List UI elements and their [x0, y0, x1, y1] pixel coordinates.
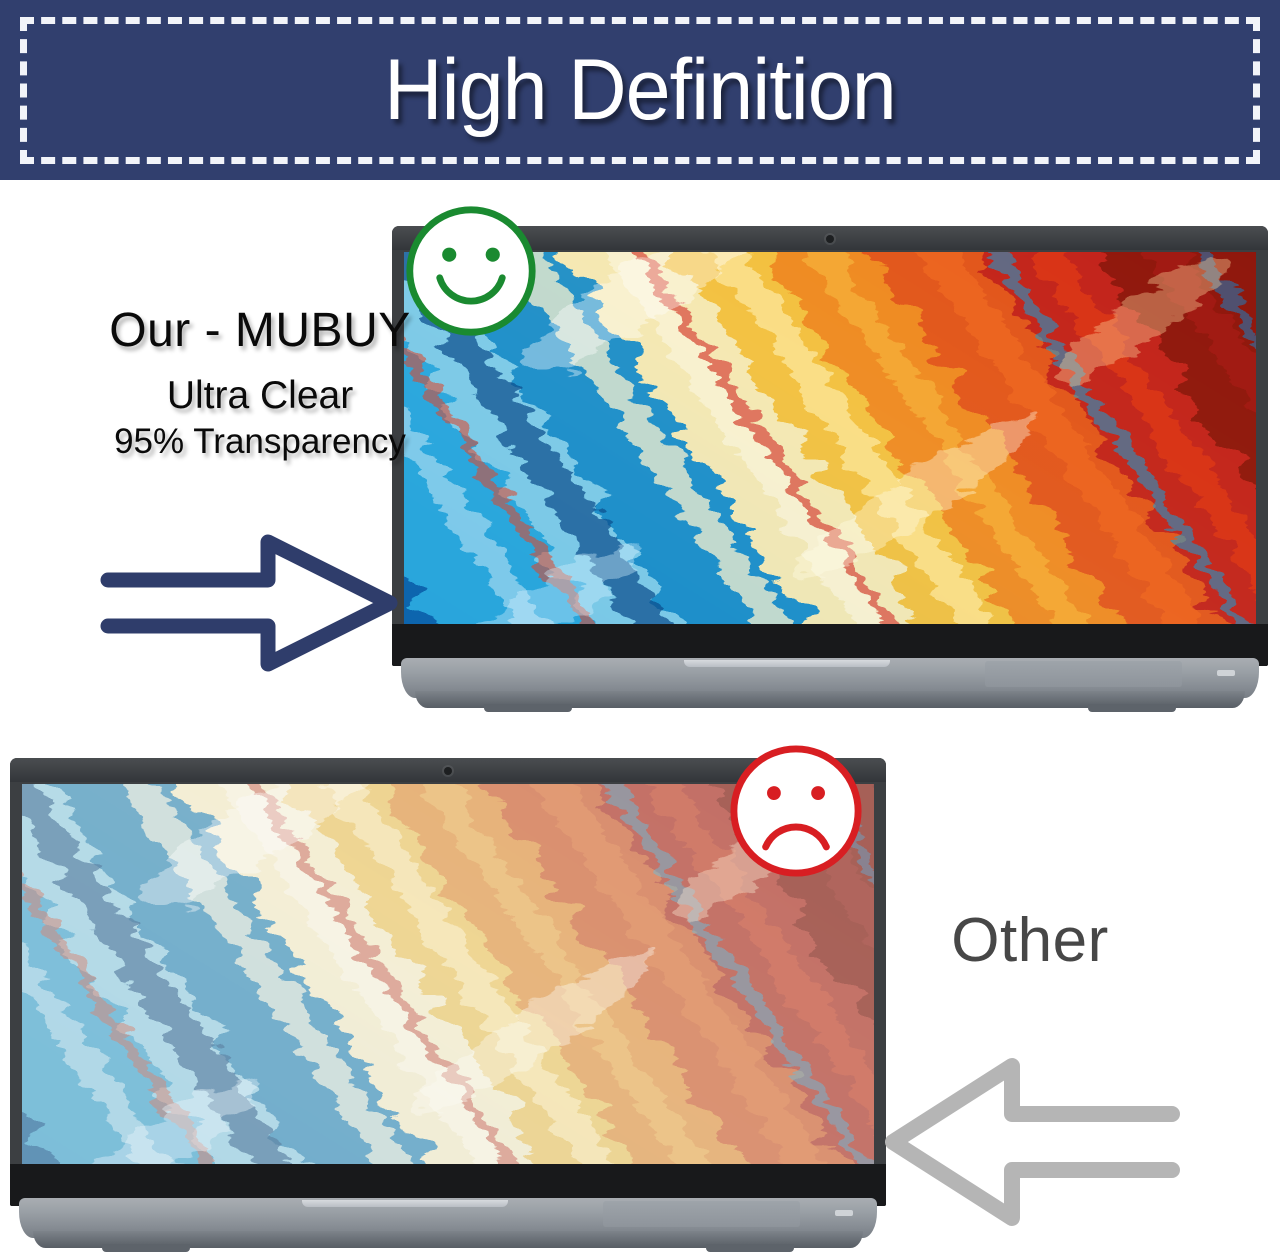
page-title: High Definition: [38, 0, 1241, 180]
laptop-foot-left: [484, 704, 572, 712]
happy-face-icon: [403, 203, 539, 339]
laptop-foot-left: [102, 1244, 190, 1252]
webcam-icon: [444, 767, 452, 775]
webcam-icon: [826, 235, 834, 243]
laptop-base-led: [1217, 670, 1235, 676]
laptop-foot-right: [706, 1244, 794, 1252]
sad-face-icon: [727, 742, 865, 880]
laptop-base-led: [835, 1210, 853, 1216]
laptop-base-mubuy: [392, 658, 1268, 716]
mubuy-copy-block: Our - MUBUY Ultra Clear 95% Transparency: [60, 305, 460, 461]
arrow-right-icon: [100, 528, 400, 678]
laptop-base-panel: [985, 661, 1182, 687]
transparency-spec-label: 95% Transparency: [60, 423, 460, 462]
feature-label: Ultra Clear: [60, 375, 460, 417]
laptop-base-notch: [302, 1200, 508, 1207]
laptop-base-other: [10, 1198, 886, 1256]
laptop-base-notch: [684, 660, 890, 667]
brand-label: Our - MUBUY: [60, 305, 460, 357]
other-label: Other: [880, 905, 1180, 976]
laptop-foot-right: [1088, 704, 1176, 712]
header-banner: High Definition: [0, 0, 1280, 180]
arrow-left-icon: [885, 1052, 1180, 1232]
laptop-base-panel: [603, 1201, 800, 1227]
